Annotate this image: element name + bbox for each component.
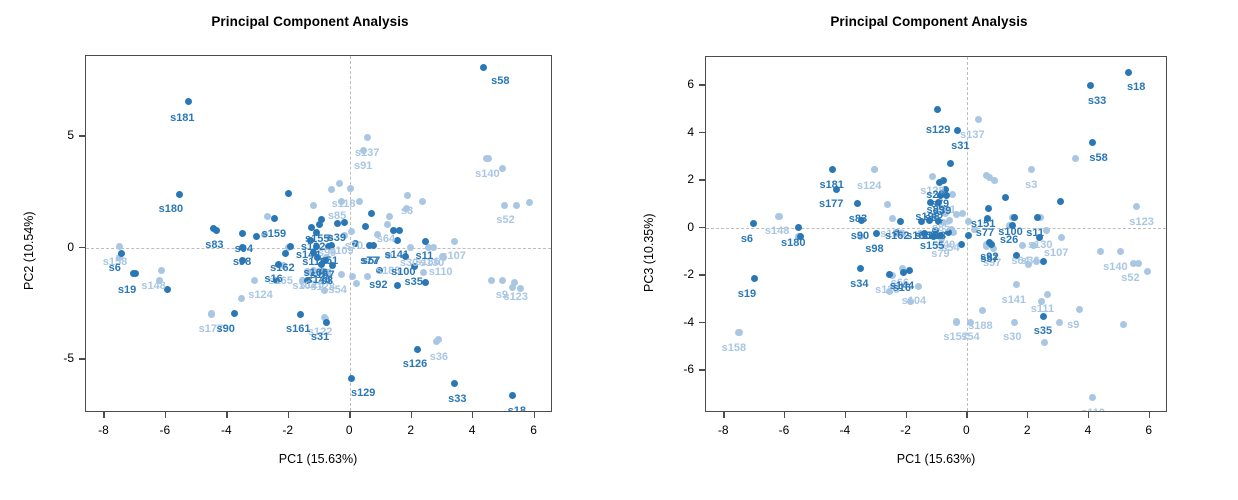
point-label: s90 (851, 231, 869, 242)
data-point (384, 221, 391, 228)
x-tick (1088, 412, 1089, 418)
point-label: s107 (441, 251, 465, 262)
y-tick-label: -6 (683, 362, 694, 376)
y-tick (699, 322, 705, 323)
data-point (213, 227, 220, 234)
point-label: s58 (491, 76, 509, 87)
x-tick-label: -6 (160, 423, 171, 437)
data-point (934, 106, 941, 113)
point-label: s52 (496, 215, 514, 226)
point-label: s85 (328, 211, 346, 222)
point-label: s107 (1044, 248, 1068, 259)
data-point (526, 199, 533, 206)
data-point (422, 279, 429, 286)
point-label: s124 (857, 181, 881, 192)
data-point (348, 375, 355, 382)
x-tick-label: 2 (407, 423, 414, 437)
point-label: s9 (496, 290, 508, 301)
x-tick-label: -8 (98, 423, 109, 437)
y-tick-label: 4 (687, 125, 694, 139)
point-label: s180 (159, 204, 183, 215)
data-point (414, 346, 421, 353)
data-point (338, 271, 345, 278)
x-tick-label: 6 (530, 423, 537, 437)
point-label: s52 (1121, 273, 1139, 284)
data-point (1117, 248, 1124, 255)
x-tick-label: 4 (1085, 423, 1092, 437)
point-label: s94 (235, 244, 253, 255)
point-label: s83 (849, 214, 867, 225)
x-tick-label: 4 (469, 423, 476, 437)
y-tick-label: -4 (683, 315, 694, 329)
x-axis-title-left: PC1 (15.63%) (279, 452, 358, 466)
data-point (1056, 319, 1063, 326)
data-point (419, 198, 426, 205)
point-label: s180 (781, 238, 805, 249)
data-point (328, 186, 335, 193)
point-label: s181 (819, 180, 843, 191)
point-label: s57 (980, 254, 998, 265)
data-point (1011, 214, 1018, 221)
data-point (433, 338, 440, 345)
point-label: s58 (1089, 153, 1107, 164)
x-tick (845, 412, 846, 418)
data-point (857, 265, 864, 272)
point-label: s8 (321, 276, 333, 287)
data-point (499, 165, 506, 172)
data-point (271, 215, 278, 222)
point-label: s64 (377, 234, 395, 245)
point-label: s26 (1000, 235, 1018, 246)
point-label: s104 (902, 296, 926, 307)
data-point (750, 220, 757, 227)
data-point (485, 155, 492, 162)
point-label: s33 (1088, 96, 1106, 107)
point-label: s6 (741, 234, 753, 245)
point-label: s124 (248, 290, 272, 301)
point-label: s140 (475, 169, 499, 180)
point-label: s148 (141, 281, 165, 292)
data-point (499, 277, 506, 284)
point-label: s129 (926, 125, 950, 136)
data-point (1019, 242, 1026, 249)
data-point (1072, 155, 1079, 162)
point-label: s31 (951, 141, 969, 152)
data-point (362, 223, 369, 230)
point-label: s129 (351, 388, 375, 399)
data-point (422, 238, 429, 245)
data-point (985, 205, 992, 212)
data-point (239, 230, 246, 237)
x-tick (1149, 412, 1150, 418)
data-point (1013, 281, 1020, 288)
data-point (386, 213, 393, 220)
point-label: s36 (1021, 256, 1039, 267)
point-label: s155 (920, 241, 944, 252)
x-axis-title-right: PC1 (15.63%) (897, 452, 976, 466)
data-point (404, 192, 411, 199)
x-tick-label: -4 (221, 423, 232, 437)
x-tick-label: 0 (346, 423, 353, 437)
point-label: s91 (354, 161, 372, 172)
data-point (488, 277, 495, 284)
data-point (353, 280, 360, 287)
x-tick (103, 412, 104, 418)
y-tick (699, 84, 705, 85)
point-label: s137 (355, 148, 379, 159)
x-tick-label: 2 (1024, 423, 1031, 437)
point-label: s11 (1026, 228, 1044, 239)
data-point (979, 307, 986, 314)
point-label: s132 (301, 242, 325, 253)
x-tick-label: -2 (282, 423, 293, 437)
data-point (871, 166, 878, 173)
data-point (873, 230, 880, 237)
point-label: s35 (1034, 326, 1052, 337)
data-point (370, 242, 377, 249)
point-label: s140 (1103, 262, 1127, 273)
data-point (889, 215, 896, 222)
data-point (348, 228, 355, 235)
point-label: s148 (765, 226, 789, 237)
x-tick-label: -2 (900, 423, 911, 437)
data-point (364, 134, 371, 141)
data-point (965, 232, 972, 239)
point-label: s39 (328, 233, 346, 244)
y-tick (699, 132, 705, 133)
point-label: s18 (508, 406, 526, 411)
x-tick-label: -8 (718, 423, 729, 437)
data-point (185, 98, 192, 105)
point-label: s110 (1081, 408, 1105, 411)
data-point (1058, 234, 1065, 241)
point-label: s144 (890, 281, 914, 292)
y-tick-label: 0 (67, 240, 74, 254)
data-point (1144, 268, 1151, 275)
data-point (264, 213, 271, 220)
point-label: s177 (819, 199, 843, 210)
y-tick-label: 5 (67, 128, 74, 142)
data-point (253, 233, 260, 240)
x-tick (723, 412, 724, 418)
data-point (940, 177, 947, 184)
data-point (1041, 339, 1048, 346)
x-tick (534, 412, 535, 418)
point-label: s188 (968, 321, 992, 332)
y-tick-label: 6 (687, 77, 694, 91)
chart-title-left: Principal Component Analysis (0, 14, 620, 29)
data-point (959, 210, 966, 217)
data-point (947, 160, 954, 167)
data-point (1133, 203, 1140, 210)
data-point (1057, 198, 1064, 205)
plot-frame-right: s137s3s124s128s123s158s148s159s91s85s40s… (705, 56, 1167, 412)
data-point (1130, 260, 1137, 267)
pca-figure: Principal Component Analysis s137s91s140… (0, 0, 1238, 500)
data-point (829, 166, 836, 173)
data-point (975, 116, 982, 123)
data-point (1076, 306, 1083, 313)
x-tick (288, 412, 289, 418)
point-label: s92 (369, 280, 387, 291)
point-label: s3 (401, 206, 413, 217)
y-tick (79, 135, 85, 136)
data-point (991, 177, 998, 184)
data-point (282, 250, 289, 257)
x-tick (1027, 412, 1028, 418)
point-label: s158 (722, 343, 746, 354)
x-tick (226, 412, 227, 418)
data-point (1125, 69, 1132, 76)
plot-frame-left: s137s91s140s118s85s3s52s64s158s148s124s1… (85, 55, 552, 412)
point-label: s161 (286, 324, 310, 335)
point-label: s90 (217, 324, 235, 335)
data-point (1097, 248, 1104, 255)
data-point (501, 202, 508, 209)
x-tick (906, 412, 907, 418)
x-tick (966, 412, 967, 418)
point-label: s18 (1127, 82, 1145, 93)
point-label: s51 (320, 256, 338, 267)
y-tick (699, 274, 705, 275)
data-point (285, 190, 292, 197)
data-point (1120, 321, 1127, 328)
data-point (451, 238, 458, 245)
data-point (251, 277, 258, 284)
x-tick-label: 0 (963, 423, 970, 437)
point-label: s98 (233, 257, 251, 268)
point-label: s82 (925, 213, 943, 224)
data-point (884, 201, 891, 208)
x-tick (349, 412, 350, 418)
data-point (751, 275, 758, 282)
point-label: s31 (311, 332, 329, 343)
data-point (1002, 194, 1009, 201)
x-tick (784, 412, 785, 418)
y-tick-label: -2 (683, 267, 694, 281)
data-point (336, 180, 343, 187)
point-label: s126 (403, 359, 427, 370)
point-label: s111 (1031, 304, 1054, 315)
point-label: s35 (404, 277, 422, 288)
data-point (511, 279, 518, 286)
data-point (1040, 258, 1047, 265)
y-tick-label: 2 (687, 172, 694, 186)
data-point (1089, 139, 1096, 146)
data-point (368, 210, 375, 217)
point-label: s6 (109, 263, 121, 274)
point-label: s141 (1002, 295, 1026, 306)
data-point (316, 221, 323, 228)
data-point (396, 227, 403, 234)
data-point (929, 173, 936, 180)
point-label: s54 (961, 332, 979, 343)
data-point (394, 237, 401, 244)
x-tick-label: -6 (779, 423, 790, 437)
point-label: s34 (850, 279, 868, 290)
y-tick (699, 227, 705, 228)
point-label: s98 (865, 244, 883, 255)
data-point (297, 311, 304, 318)
point-label: s159 (262, 229, 286, 240)
point-label: s36 (430, 352, 448, 363)
data-point (394, 282, 401, 289)
data-point (906, 267, 913, 274)
point-label: s141 (384, 250, 408, 261)
pca-panel-pc1-pc3: Principal Component Analysis s137s3s124s… (620, 0, 1238, 500)
data-point (897, 218, 904, 225)
data-point (915, 283, 922, 290)
data-point (347, 185, 354, 192)
x-tick (411, 412, 412, 418)
data-point (949, 191, 956, 198)
plot-area-right: s137s3s124s128s123s158s148s159s91s85s40s… (706, 57, 1166, 411)
x-tick (472, 412, 473, 418)
data-point (231, 310, 238, 317)
data-point (287, 243, 294, 250)
data-point (356, 198, 363, 205)
x-tick-label: 6 (1145, 423, 1152, 437)
point-label: s123 (1129, 217, 1153, 228)
data-point (736, 329, 743, 336)
point-label: s33 (448, 394, 466, 405)
point-label: s83 (205, 240, 223, 251)
y-axis-title-right: PC3 (10.35%) (642, 213, 656, 292)
point-label: s118 (332, 199, 356, 210)
data-point (176, 191, 183, 198)
y-tick-label: -5 (63, 351, 74, 365)
data-point (480, 64, 487, 71)
data-point (509, 392, 516, 399)
x-tick (165, 412, 166, 418)
x-tick-label: -4 (839, 423, 850, 437)
point-label: s57 (362, 256, 380, 267)
data-point (451, 380, 458, 387)
data-point (1044, 291, 1051, 298)
data-point (158, 267, 165, 274)
data-point (238, 295, 245, 302)
point-label: s16 (264, 274, 282, 285)
point-label: s77 (976, 228, 994, 239)
data-point (983, 172, 990, 179)
y-tick-label: 0 (687, 220, 694, 234)
y-tick (699, 369, 705, 370)
point-label: s3 (1025, 180, 1037, 191)
y-tick (699, 179, 705, 180)
data-point (795, 224, 802, 231)
point-label: s19 (118, 285, 136, 296)
point-label: s19 (738, 289, 756, 300)
y-tick (79, 358, 85, 359)
point-label: s11 (416, 251, 434, 262)
data-point (310, 202, 317, 209)
point-label: s30 (1003, 332, 1021, 343)
data-point (1087, 82, 1094, 89)
point-label: s181 (170, 113, 194, 124)
data-point (513, 202, 520, 209)
data-point (1089, 394, 1096, 401)
data-point (854, 200, 861, 207)
data-point (1028, 166, 1035, 173)
y-tick (79, 247, 85, 248)
y-axis-title-left: PC2 (10.54%) (22, 211, 36, 290)
pca-panel-pc1-pc2: Principal Component Analysis s137s91s140… (0, 0, 620, 500)
plot-area-left: s137s91s140s118s85s3s52s64s158s148s124s1… (86, 56, 551, 411)
data-point (1011, 319, 1018, 326)
chart-title-right: Principal Component Analysis (620, 14, 1238, 29)
point-label: s9 (1067, 320, 1079, 331)
